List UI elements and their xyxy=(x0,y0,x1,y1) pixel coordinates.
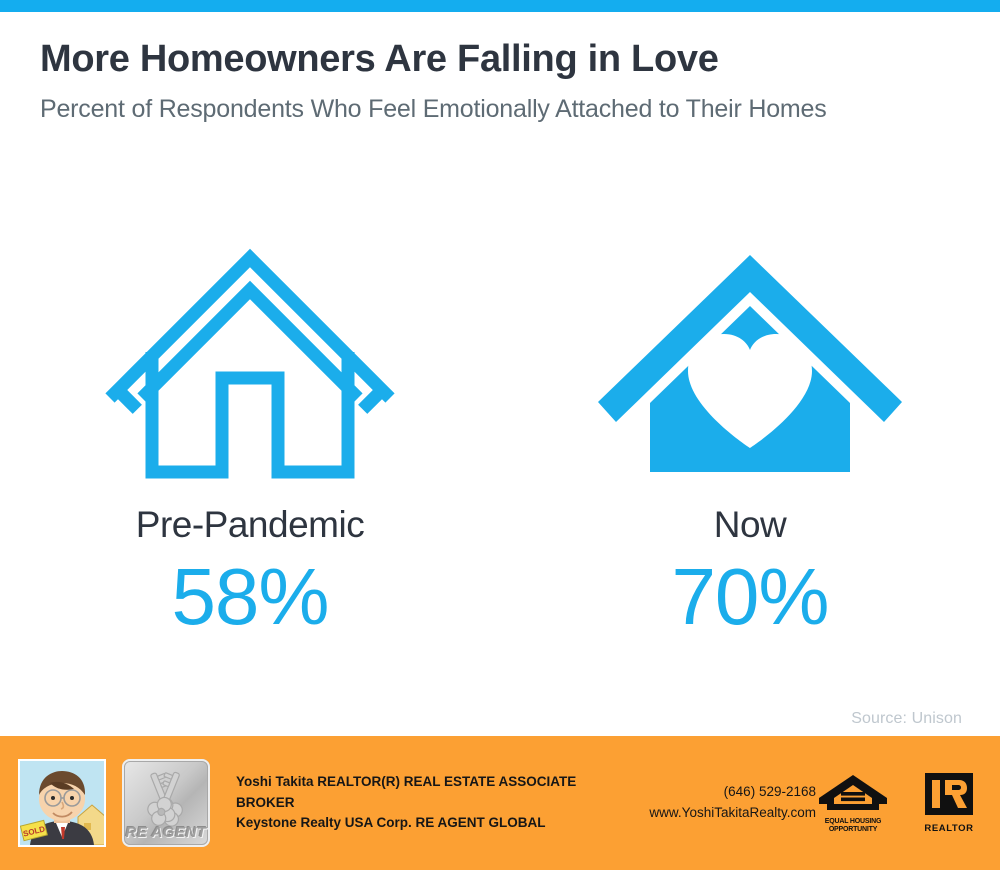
realtor-badge: REALTOR xyxy=(918,772,980,834)
agent-website[interactable]: www.YoshiTakitaRealty.com xyxy=(616,803,816,824)
page-subtitle: Percent of Respondents Who Feel Emotiona… xyxy=(40,94,960,124)
header-block: More Homeowners Are Falling in Love Perc… xyxy=(40,38,960,124)
realtor-label: REALTOR xyxy=(918,823,980,834)
icon-slot-now xyxy=(590,200,910,490)
page-title: More Homeowners Are Falling in Love xyxy=(40,38,960,82)
panel-now: Now 70% xyxy=(500,200,1000,680)
footer-badges: EQUAL HOUSING OPPORTUNITY REALTOR xyxy=(816,772,980,834)
avatar: SOLD xyxy=(18,759,106,847)
agent-name-line: Yoshi Takita REALTOR(R) REAL ESTATE ASSO… xyxy=(236,772,616,814)
house-filled-heart-icon xyxy=(590,200,910,490)
house-outline-icon xyxy=(100,200,400,490)
source-attribution: Source: Unison xyxy=(851,710,962,728)
equal-housing-opportunity-badge: EQUAL HOUSING OPPORTUNITY xyxy=(816,772,890,834)
equal-housing-label: EQUAL HOUSING OPPORTUNITY xyxy=(816,818,890,834)
agent-info: Yoshi Takita REALTOR(R) REAL ESTATE ASSO… xyxy=(236,772,616,835)
panel-value-pre-pandemic: 58% xyxy=(171,557,328,637)
re-agent-logo-label: RE AGENT xyxy=(122,824,210,841)
top-accent-bar xyxy=(0,0,1000,12)
footer-bar: SOLD xyxy=(0,736,1000,870)
eho-line-1: EQUAL HOUSING xyxy=(816,818,890,826)
agent-phone[interactable]: (646) 529-2168 xyxy=(616,782,816,803)
agent-brokerage-line: Keystone Realty USA Corp. RE AGENT GLOBA… xyxy=(236,813,616,834)
re-agent-logo: RE AGENT xyxy=(122,759,210,847)
panel-value-now: 70% xyxy=(671,557,828,637)
icon-slot-pre-pandemic xyxy=(100,200,400,490)
equal-housing-icon xyxy=(816,772,890,812)
eho-line-2: OPPORTUNITY xyxy=(816,826,890,834)
comparison-section: Pre-Pandemic 58% Now 70% xyxy=(0,200,1000,680)
agent-caricature-icon: SOLD xyxy=(20,761,104,845)
agent-contact: (646) 529-2168 www.YoshiTakitaRealty.com xyxy=(616,782,816,824)
realtor-r-icon xyxy=(918,772,980,816)
panel-pre-pandemic: Pre-Pandemic 58% xyxy=(0,200,500,680)
panel-label-now: Now xyxy=(714,506,787,543)
panel-label-pre-pandemic: Pre-Pandemic xyxy=(136,506,364,543)
